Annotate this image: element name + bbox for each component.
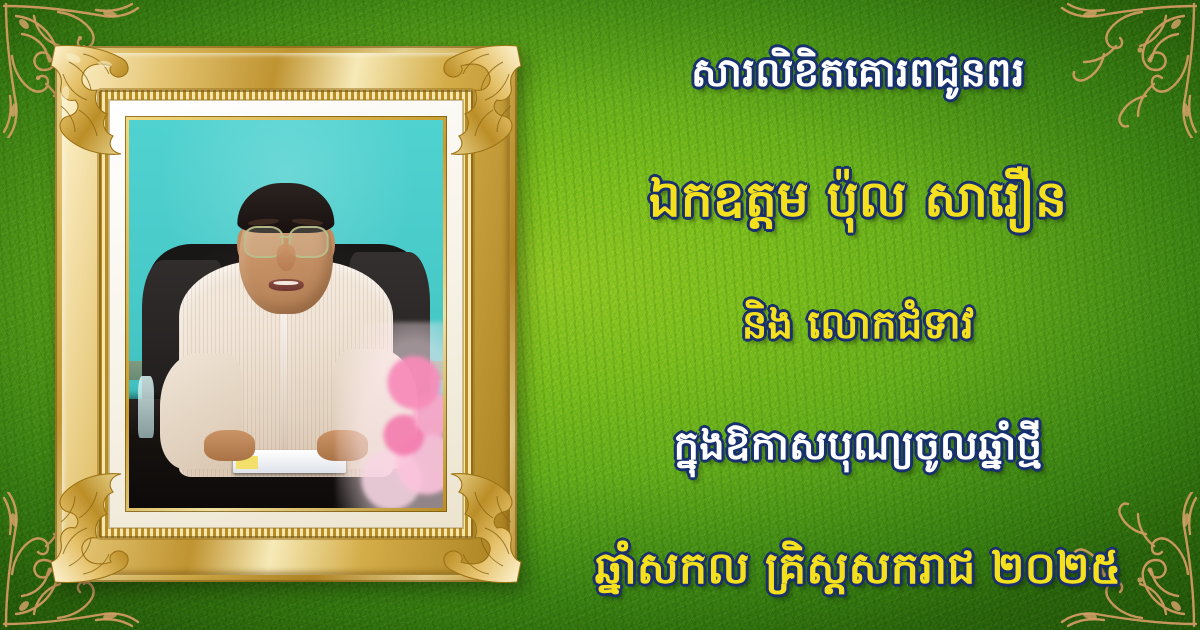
- person-nose: [277, 244, 296, 271]
- eyeglass-bridge: [279, 236, 293, 238]
- water-bottle: [138, 376, 154, 438]
- person-teeth: [273, 281, 298, 286]
- greeting-card: សារលិខិតគោរពជូនពរ ឯកឧត្តម ប៉ុល សារឿន និង…: [0, 0, 1200, 630]
- portrait-frame: [55, 46, 517, 582]
- pink-flowers: [336, 322, 443, 508]
- greeting-line-4-occasion: ក្នុងឱកាសបុណ្យចូលឆ្នាំថ្មី: [528, 425, 1188, 467]
- greeting-line-5-year: ឆ្នាំសកល គ្រិស្តសករាជ ២០២៥: [528, 546, 1188, 592]
- portrait-photo: [129, 120, 443, 508]
- greeting-message: សារលិខិតគោរពជូនពរ ឯកឧត្តម ប៉ុល សារឿន និង…: [528, 52, 1188, 592]
- person-hand-left: [204, 430, 254, 461]
- greeting-line-3-spouse: និង លោកជំទាវ: [528, 304, 1188, 346]
- greeting-line-1: សារលិខិតគោរពជូនពរ: [528, 52, 1188, 94]
- greeting-line-2-honoree-name: ឯកឧត្តម ប៉ុល សារឿន: [528, 173, 1188, 226]
